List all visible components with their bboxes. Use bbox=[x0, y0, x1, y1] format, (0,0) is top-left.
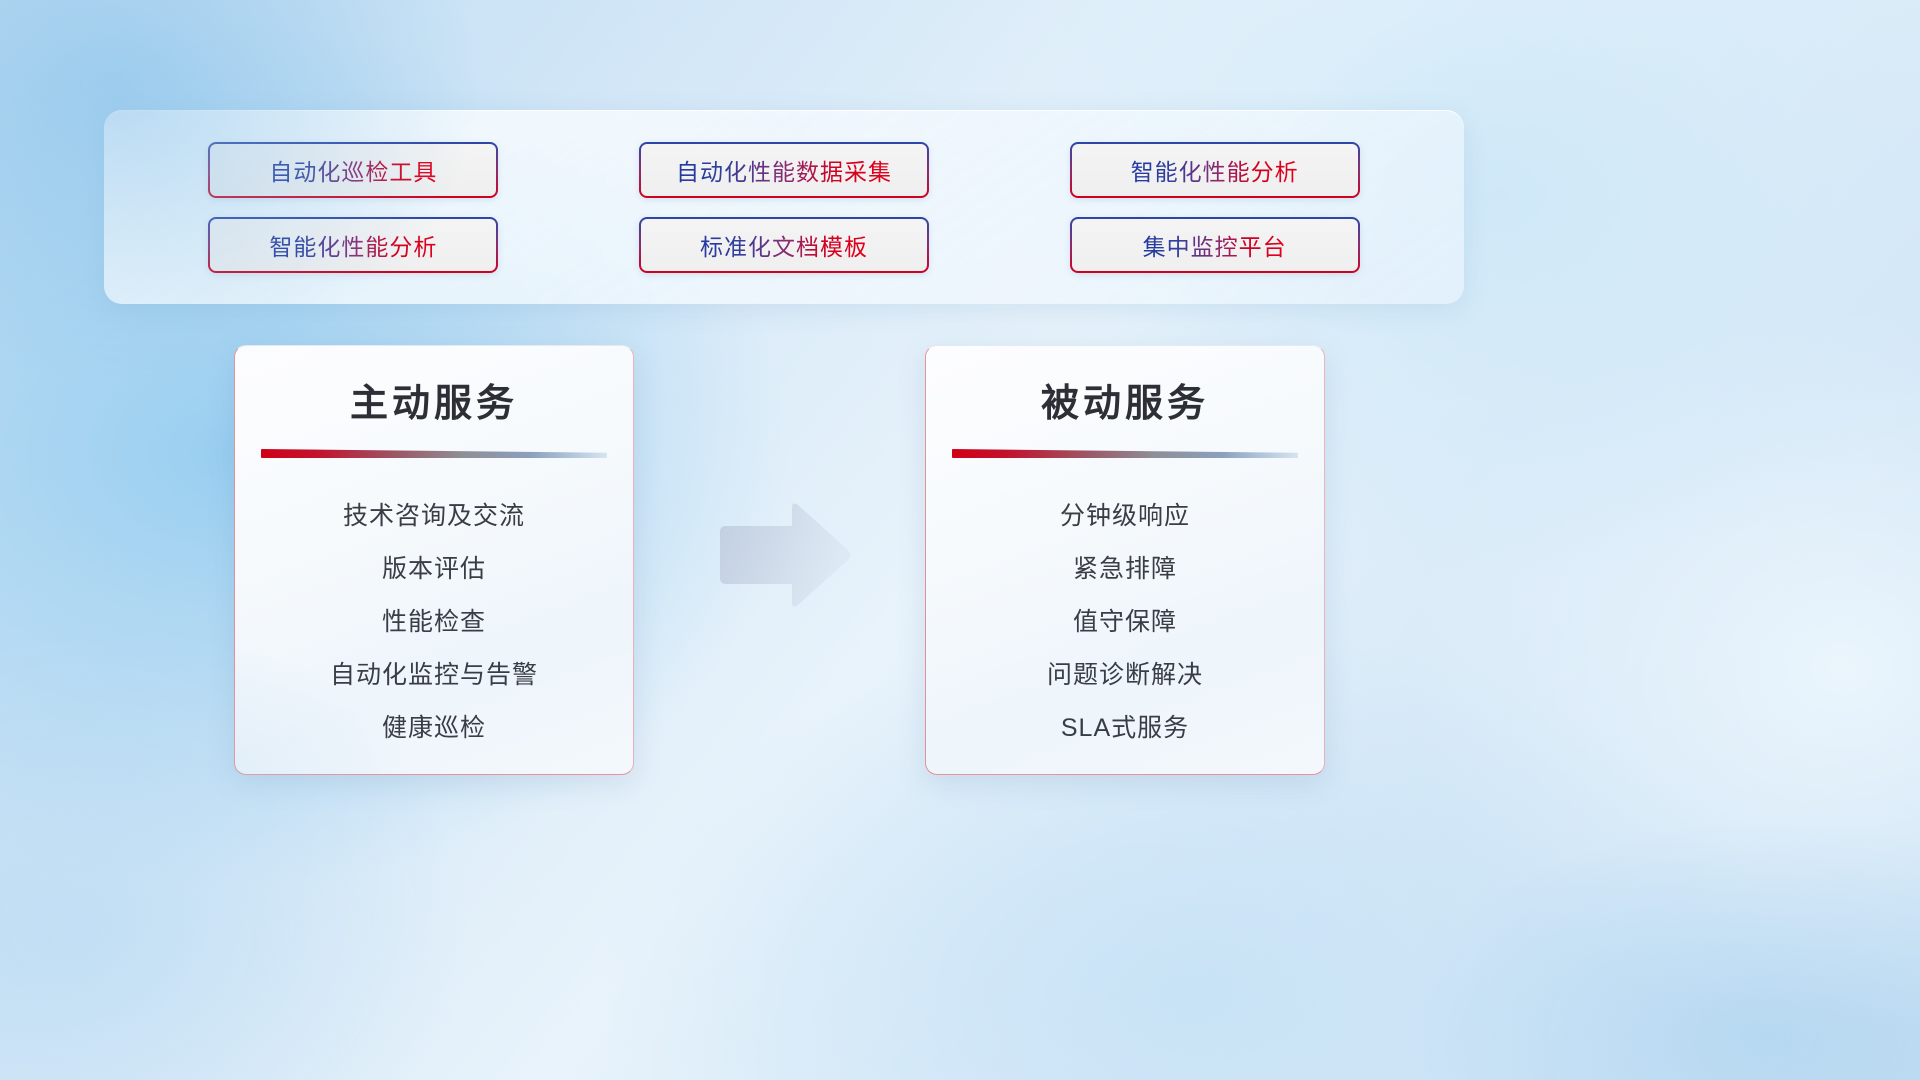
capability-chip-3[interactable]: 智能化性能分析 bbox=[1070, 142, 1360, 198]
capability-chip-4[interactable]: 智能化性能分析 bbox=[208, 217, 498, 273]
capability-chip-6[interactable]: 集中监控平台 bbox=[1070, 217, 1360, 273]
card-list-item: 自动化监控与告警 bbox=[235, 649, 633, 702]
chip-inner: 自动化巡检工具 bbox=[210, 144, 496, 196]
card-list-item: 技术咨询及交流 bbox=[235, 490, 633, 543]
chip-inner: 智能化性能分析 bbox=[1072, 144, 1358, 196]
card-list-item: 值守保障 bbox=[926, 596, 1324, 649]
card-list-item: 分钟级响应 bbox=[926, 490, 1324, 543]
chip-inner: 自动化性能数据采集 bbox=[641, 144, 927, 196]
card-divider bbox=[952, 449, 1298, 458]
capability-chip-label: 自动化性能数据采集 bbox=[676, 153, 892, 187]
chip-inner: 集中监控平台 bbox=[1072, 219, 1358, 271]
chip-grid: 自动化巡检工具 自动化性能数据采集 智能化性能分析 智能化性能分析 bbox=[104, 110, 1464, 304]
capability-chip-label: 集中监控平台 bbox=[1143, 228, 1287, 262]
capability-chip-label: 自动化巡检工具 bbox=[269, 153, 437, 187]
capability-chip-label: 智能化性能分析 bbox=[1131, 153, 1299, 187]
card-title: 主动服务 bbox=[235, 372, 633, 427]
chip-inner: 智能化性能分析 bbox=[210, 219, 496, 271]
capability-chips-panel: 自动化巡检工具 自动化性能数据采集 智能化性能分析 智能化性能分析 bbox=[104, 110, 1464, 304]
capability-chip-5[interactable]: 标准化文档模板 bbox=[639, 217, 929, 273]
capability-chip-2[interactable]: 自动化性能数据采集 bbox=[639, 142, 929, 198]
capability-chip-1[interactable]: 自动化巡检工具 bbox=[208, 142, 498, 198]
card-title: 被动服务 bbox=[926, 372, 1324, 427]
card-list-item: 健康巡检 bbox=[235, 702, 633, 755]
card-list-item: 问题诊断解决 bbox=[926, 649, 1324, 702]
arrow-right-icon bbox=[714, 500, 854, 610]
capability-chip-label: 智能化性能分析 bbox=[269, 228, 437, 262]
service-card-proactive[interactable]: 主动服务 技术咨询及交流 版本评估 性能检查 自动化监控与告警 健康巡检 bbox=[234, 345, 634, 775]
card-divider bbox=[261, 449, 607, 458]
card-list-item: 版本评估 bbox=[235, 543, 633, 596]
chip-inner: 标准化文档模板 bbox=[641, 219, 927, 271]
card-list-item: SLA式服务 bbox=[926, 702, 1324, 755]
card-item-list: 分钟级响应 紧急排障 值守保障 问题诊断解决 SLA式服务 bbox=[926, 490, 1324, 755]
capability-chip-label: 标准化文档模板 bbox=[700, 228, 868, 262]
card-list-item: 紧急排障 bbox=[926, 543, 1324, 596]
service-card-reactive[interactable]: 被动服务 分钟级响应 紧急排障 值守保障 问题诊断解决 SLA式服务 bbox=[925, 345, 1325, 775]
card-list-item: 性能检查 bbox=[235, 596, 633, 649]
diagram-canvas: 自动化巡检工具 自动化性能数据采集 智能化性能分析 智能化性能分析 bbox=[0, 0, 1920, 1080]
card-item-list: 技术咨询及交流 版本评估 性能检查 自动化监控与告警 健康巡检 bbox=[235, 490, 633, 755]
